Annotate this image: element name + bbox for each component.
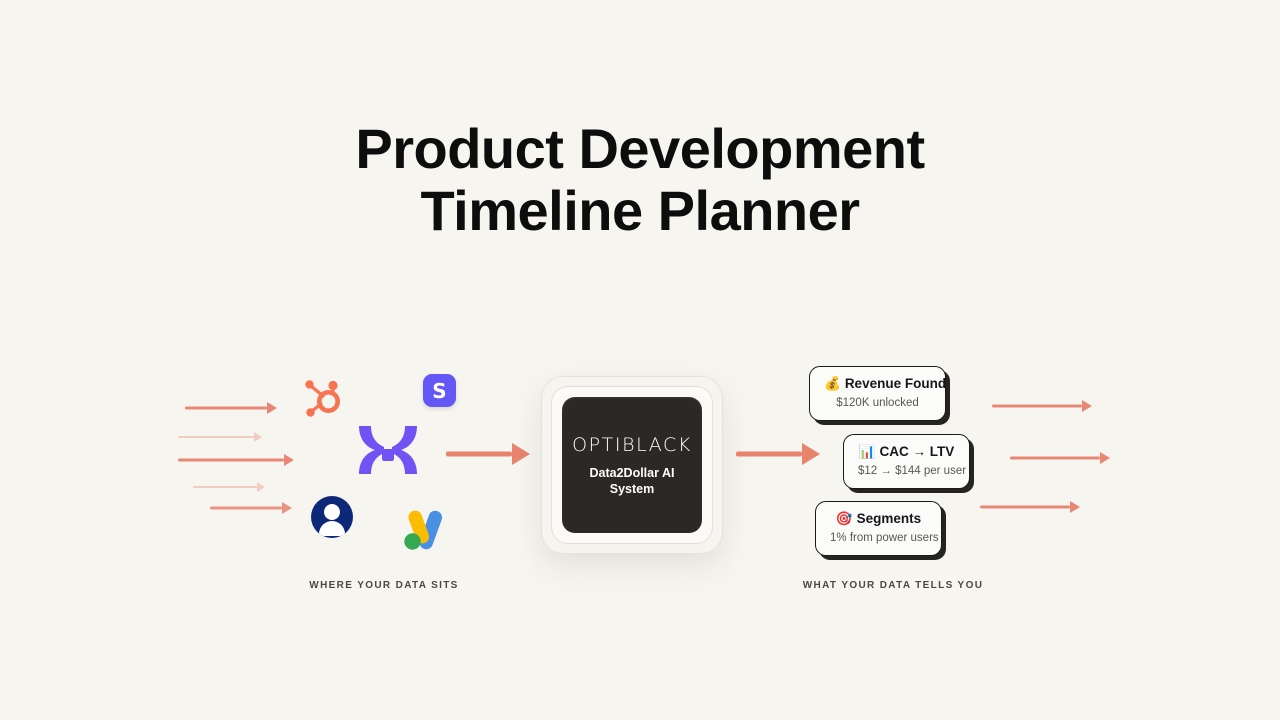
arrow-shaft [980,506,1070,509]
arrow-shaft [193,486,257,488]
arrow-shaft [178,436,254,438]
arrow-shaft [1010,457,1100,460]
output-card-title: 📊CAC → LTV [858,443,955,461]
slide-canvas: Product Development Timeline Planner [0,0,1280,720]
bar-chart-icon: 📊 [859,444,876,460]
arrow-head [1070,501,1080,513]
arrow-shaft [736,452,802,457]
hubspot-logo [300,374,348,422]
chip-brand-name: OPTIBLACK [572,434,692,456]
arrow-head [802,443,820,465]
title-line-2: Timeline Planner [0,180,1280,242]
stripe-logo-letter: S [432,379,446,403]
output-card-subtitle: $12 → $144 per user [858,464,955,479]
output-card-segments[interactable]: 🎯Segments 1% from power users [815,501,942,556]
output-card-subtitle: 1% from power users [830,531,927,546]
outputs-caption: WHAT YOUR DATA TELLS YOU [778,580,1008,591]
page-title: Product Development Timeline Planner [0,118,1280,242]
chip-inner-frame: OPTIBLACK Data2Dollar AI System [551,386,713,544]
chip-core: OPTIBLACK Data2Dollar AI System [562,397,702,533]
amplitude-logo [311,496,353,538]
target-icon: 🎯 [836,511,853,527]
arrow-shaft [446,452,512,457]
arrow-head [254,432,262,442]
title-line-1: Product Development [0,118,1280,180]
arrow-shaft [210,507,282,510]
output-card-title: 🎯Segments [830,510,927,528]
output-card-subtitle: $120K unlocked [824,396,931,411]
chip-subtitle: Data2Dollar AI System [567,465,697,497]
optiblack-chip: OPTIBLACK Data2Dollar AI System [541,376,723,554]
arrow-shaft [178,459,284,462]
arrow-head [1082,400,1092,412]
sources-caption: WHERE YOUR DATA SITS [268,580,500,591]
arrow-head [267,402,277,414]
arrow-shaft [992,405,1082,408]
output-card-cac-ltv[interactable]: 📊CAC → LTV $12 → $144 per user [843,434,970,489]
output-card-revenue[interactable]: 💰Revenue Found $120K unlocked [809,366,946,421]
arrow-head [284,454,294,466]
arrow-head [512,443,530,465]
arrow-head [257,482,265,492]
money-bag-icon: 💰 [824,376,841,392]
stripe-logo: S [423,374,456,407]
arrow-head [1100,452,1110,464]
output-card-title: 💰Revenue Found [824,375,931,393]
google-ads-logo [401,508,449,557]
arrow-head [282,502,292,514]
mixpanel-logo [355,422,421,493]
arrow-shaft [185,407,267,410]
